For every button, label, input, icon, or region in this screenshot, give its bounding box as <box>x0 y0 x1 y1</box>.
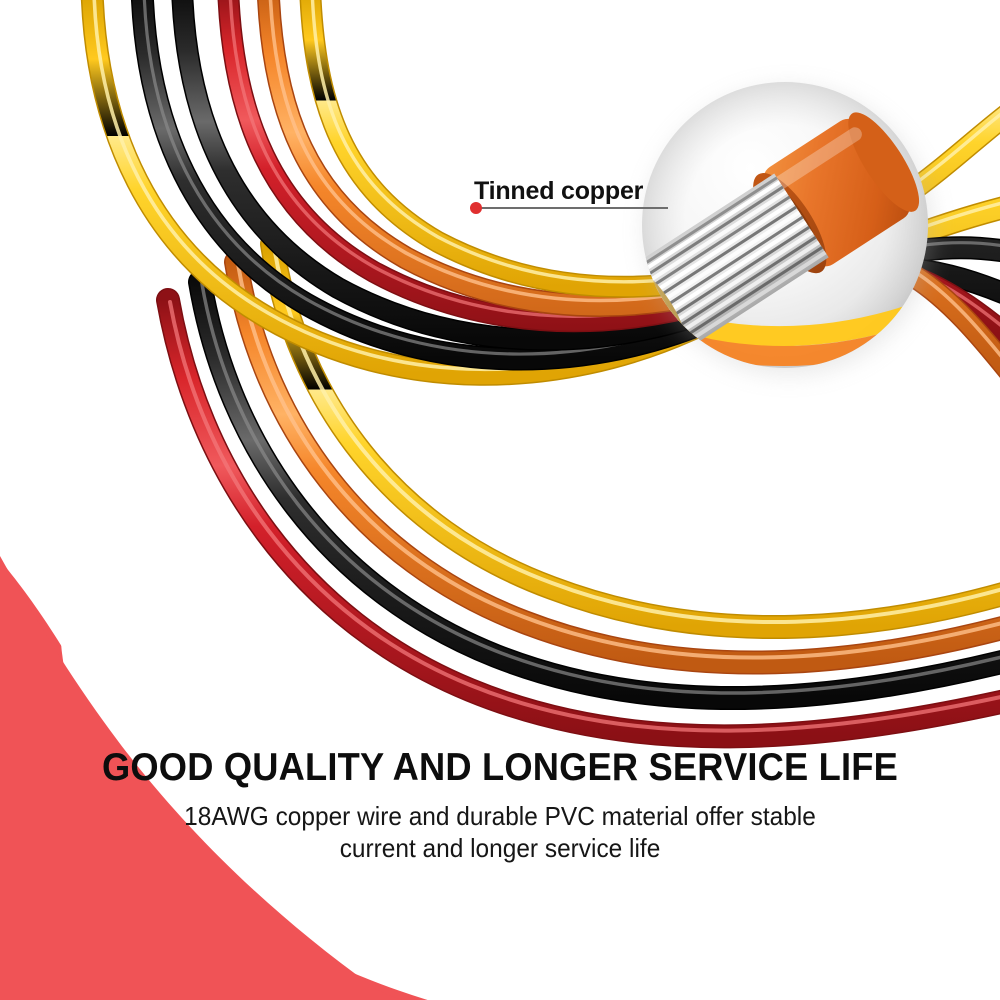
product-marketing-image: Tinned copper GOOD QUALITY AND LONGER SE… <box>0 0 1000 1000</box>
caption-block: GOOD QUALITY AND LONGER SERVICE LIFE 18A… <box>0 748 1000 864</box>
headline: GOOD QUALITY AND LONGER SERVICE LIFE <box>35 748 965 789</box>
subheadline-line-2: current and longer service life <box>30 833 970 865</box>
subheadline: 18AWG copper wire and durable PVC materi… <box>30 801 970 864</box>
callout-label: Tinned copper <box>474 177 643 206</box>
subheadline-line-1: 18AWG copper wire and durable PVC materi… <box>30 801 970 833</box>
